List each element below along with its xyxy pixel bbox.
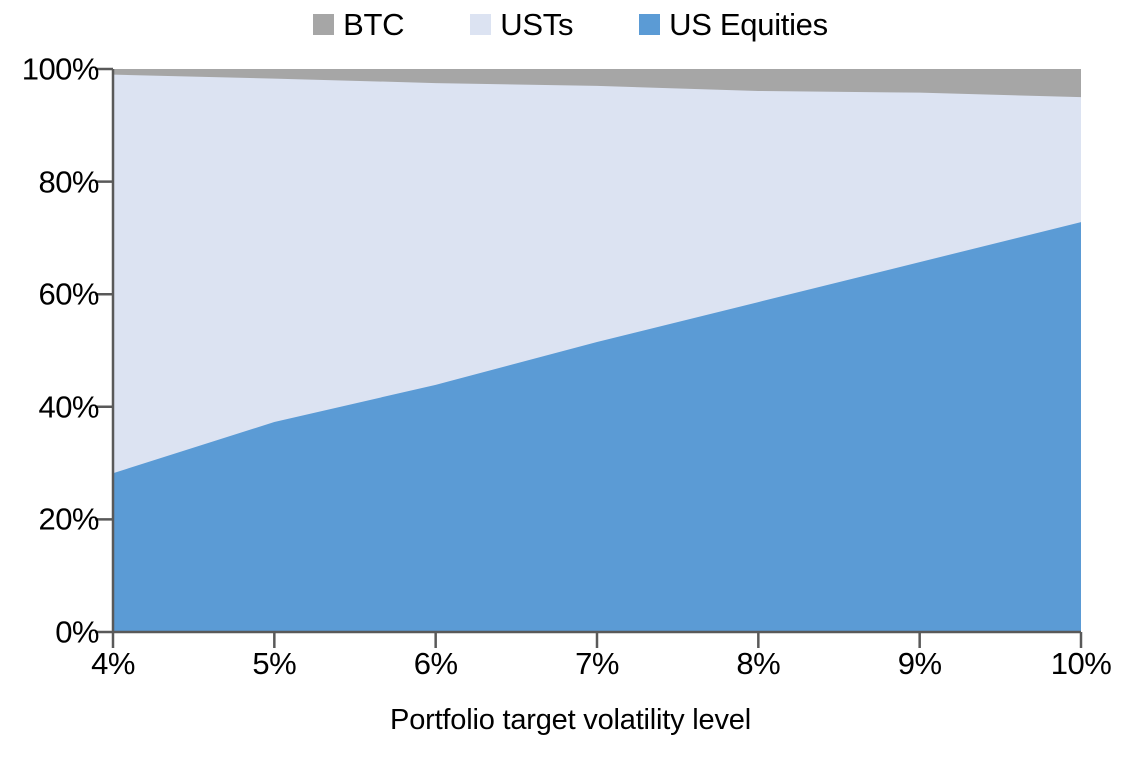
- x-axis-tick-label: 6%: [414, 648, 458, 679]
- y-axis-tick-label: 0%: [55, 617, 99, 648]
- y-axis-tick-label: 40%: [38, 391, 99, 422]
- x-axis-tick-label: 10%: [1051, 648, 1112, 679]
- x-axis-tick-label: 4%: [91, 648, 135, 679]
- y-axis-tick-label: 80%: [38, 166, 99, 197]
- x-axis-tick-label: 8%: [736, 648, 780, 679]
- x-axis-title: Portfolio target volatility level: [0, 706, 1141, 735]
- x-axis-tick-label: 9%: [898, 648, 942, 679]
- x-axis-tick-label: 7%: [575, 648, 619, 679]
- x-axis-tick-label: 5%: [252, 648, 296, 679]
- y-axis-tick-label: 20%: [38, 504, 99, 535]
- y-axis-tick-label: 60%: [38, 279, 99, 310]
- x-axis-tick-labels: 4%5%6%7%8%9%10%: [0, 648, 1141, 692]
- y-axis-tick-label: 100%: [22, 54, 99, 85]
- stacked-area-chart: BTC USTs US Equities 100%80%60%40%20%0% …: [0, 0, 1141, 763]
